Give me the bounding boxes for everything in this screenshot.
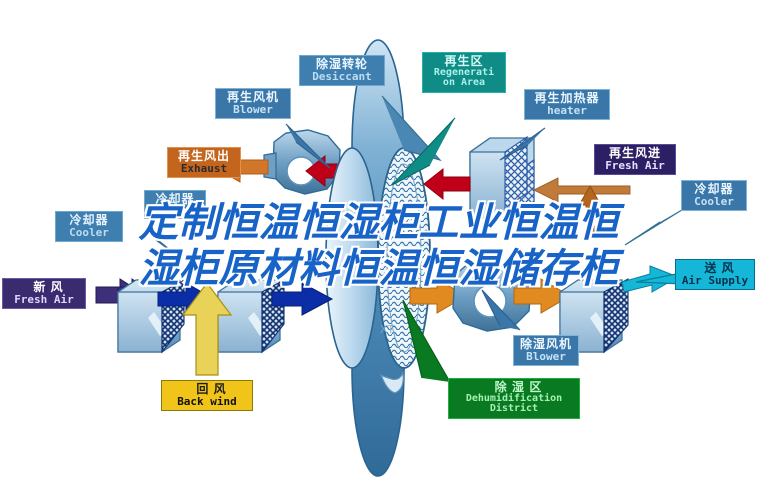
label-dehumidification-blower-cn: 除湿风机 xyxy=(519,338,573,351)
label-exhaust-en: Exhaust xyxy=(173,163,235,175)
label-regeneration-heater-cn: 再生加热器 xyxy=(530,92,604,105)
label-dehumidification-district-cn: 除 湿 区 xyxy=(454,381,574,394)
label-regen-fresh-air: 再生风进 Fresh Air xyxy=(594,144,676,175)
label-desiccant-en: Desiccant xyxy=(305,71,379,83)
label-regeneration-heater: 再生加热器 heater xyxy=(524,89,610,120)
label-cooler-right-en: Cooler xyxy=(687,196,741,208)
label-cooler-right: 冷却器 Cooler xyxy=(681,180,747,211)
label-regeneration-blower-cn: 再生风机 xyxy=(221,91,285,104)
label-back-wind: 回 风 Back wind xyxy=(161,380,253,411)
label-desiccant: 除湿转轮 Desiccant xyxy=(299,55,385,86)
fresh-air-to-heater-arrow xyxy=(534,178,630,202)
label-cooler-left-upper-cn: 冷却器 xyxy=(150,193,200,206)
cooler-coil-1-graphic xyxy=(118,280,184,352)
label-desiccant-cn: 除湿转轮 xyxy=(305,58,379,71)
label-regen-fresh-air-cn: 再生风进 xyxy=(600,147,670,160)
label-regen-fresh-air-en: Fresh Air xyxy=(600,160,670,172)
label-fresh-air: 新 风 Fresh Air xyxy=(2,278,86,309)
dehumidifier-schematic-image: XT xyxy=(0,0,757,488)
label-air-supply-cn: 送 风 xyxy=(681,262,749,275)
label-regeneration-blower-en: Blower xyxy=(221,104,285,116)
label-air-supply: 送 风 Air Supply xyxy=(675,259,755,290)
svg-text:XT: XT xyxy=(380,323,394,336)
label-regeneration-heater-en: heater xyxy=(530,105,604,117)
label-cooler-left-upper: 冷却器 xyxy=(144,190,206,219)
label-dehumidification-blower: 除湿风机 Blower xyxy=(513,335,579,366)
label-back-wind-cn: 回 风 xyxy=(167,383,247,396)
label-regeneration-area-en2: on Area xyxy=(428,78,500,89)
label-fresh-air-cn: 新 风 xyxy=(8,281,80,294)
cooler-coil-2-graphic xyxy=(218,280,284,352)
label-dehumidification-district: 除 湿 区 Dehumidification District xyxy=(448,378,580,419)
label-air-supply-en: Air Supply xyxy=(681,275,749,287)
label-regeneration-area: 再生区 Regenerati on Area xyxy=(422,52,506,93)
label-cooler-left: 冷却器 Cooler xyxy=(55,211,123,242)
label-dehumidification-district-en2: District xyxy=(454,404,574,415)
heater-to-rotor-arrow xyxy=(424,169,470,199)
label-cooler-right-cn: 冷却器 xyxy=(687,183,741,196)
label-cooler-left-en: Cooler xyxy=(61,227,117,239)
label-fresh-air-en: Fresh Air xyxy=(8,294,80,306)
label-exhaust: 再生风出 Exhaust xyxy=(167,147,241,178)
desiccant-rotor-graphic: XT xyxy=(326,40,430,476)
label-cooler-left-cn: 冷却器 xyxy=(61,214,117,227)
label-regeneration-blower: 再生风机 Blower xyxy=(215,88,291,119)
label-dehumidification-blower-en: Blower xyxy=(519,351,573,363)
label-exhaust-cn: 再生风出 xyxy=(173,150,235,163)
label-back-wind-en: Back wind xyxy=(167,396,247,408)
label-regeneration-area-cn: 再生区 xyxy=(428,55,500,68)
